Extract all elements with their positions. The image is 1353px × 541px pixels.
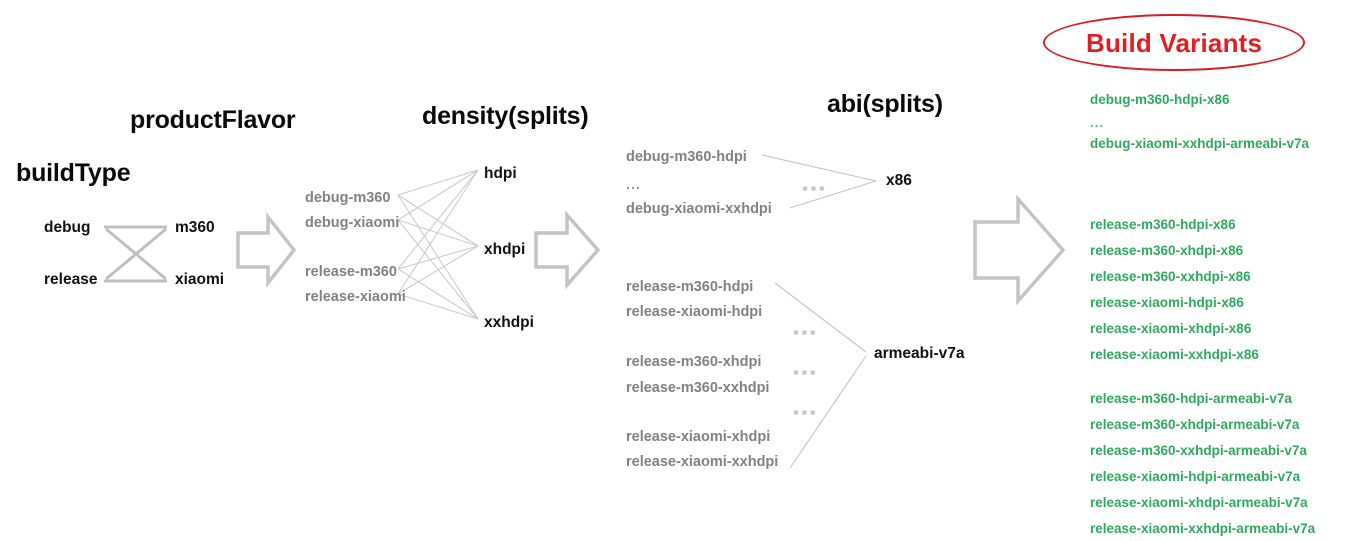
build-variant-item: release-xiaomi-xhdpi-armeabi-v7a <box>1090 495 1315 510</box>
buildtype-release: release <box>44 272 97 288</box>
abi-armeabi-converge <box>775 283 866 468</box>
productflavor-m360: m360 <box>175 220 215 236</box>
dots-separator-debug: ••• <box>802 180 827 197</box>
density-xhdpi: xhdpi <box>484 242 525 258</box>
dots-separator-release-1: ••• <box>793 324 818 341</box>
build-variant-item: release-xiaomi-xxhdpi-armeabi-v7a <box>1090 521 1315 536</box>
density-combo-release-xiaomi-xxhdpi: release-xiaomi-xxhdpi <box>626 455 778 470</box>
density-combo-debug-xiaomi-xxhdpi: debug-xiaomi-xxhdpi <box>626 202 772 217</box>
arrow-right-1 <box>238 217 294 283</box>
abi-armeabi-v7a: armeabi-v7a <box>874 346 964 362</box>
stage-title-productflavor: productFlavor <box>130 108 295 133</box>
build-variants-group-release-armeabi: release-m360-hdpi-armeabi-v7a release-m3… <box>1090 391 1315 536</box>
density-combo-release-xiaomi-xhdpi: release-xiaomi-xhdpi <box>626 430 770 445</box>
stage-title-buildtype: buildType <box>16 161 130 186</box>
dots-separator-release-3: ••• <box>793 404 818 421</box>
arrow-right-3 <box>975 199 1063 301</box>
arrow-right-2 <box>536 215 598 285</box>
abi-x86: x86 <box>886 173 912 189</box>
flavor-combo-release-m360: release-m360 <box>305 265 397 280</box>
build-variant-item: release-m360-xxhdpi-x86 <box>1090 269 1259 284</box>
density-xxhdpi: xxhdpi <box>484 315 534 331</box>
stage-title-density: density(splits) <box>422 104 588 129</box>
build-variant-item: release-m360-hdpi-armeabi-v7a <box>1090 391 1315 406</box>
build-variants-group-release-x86: release-m360-hdpi-x86 release-m360-xhdpi… <box>1090 217 1259 362</box>
build-variant-item: release-m360-xhdpi-x86 <box>1090 243 1259 258</box>
density-combo-debug-m360-hdpi: debug-m360-hdpi <box>626 150 747 165</box>
density-combo-release-m360-xxhdpi: release-m360-xxhdpi <box>626 381 769 396</box>
flavor-combo-debug-m360: debug-m360 <box>305 191 390 206</box>
dots-separator-release-2: ••• <box>793 364 818 381</box>
density-combo-release-m360-hdpi: release-m360-hdpi <box>626 280 753 295</box>
density-hdpi: hdpi <box>484 166 517 182</box>
buildtype-debug: debug <box>44 220 91 236</box>
build-variant-item: release-m360-hdpi-x86 <box>1090 217 1259 232</box>
build-variant-item: release-xiaomi-xxhdpi-x86 <box>1090 347 1259 362</box>
flavor-combo-debug-xiaomi: debug-xiaomi <box>305 216 399 231</box>
build-variant-item: release-xiaomi-hdpi-armeabi-v7a <box>1090 469 1315 484</box>
density-combo-release-xiaomi-hdpi: release-xiaomi-hdpi <box>626 305 762 320</box>
density-combo-debug-ellipsis: ... <box>626 178 641 193</box>
productflavor-xiaomi: xiaomi <box>175 272 224 288</box>
stage-title-abi: abi(splits) <box>827 92 943 117</box>
build-variant-item: release-xiaomi-hdpi-x86 <box>1090 295 1259 310</box>
build-variant-item: release-m360-xhdpi-armeabi-v7a <box>1090 417 1315 432</box>
build-variant-ellipsis: ... <box>1090 115 1309 130</box>
build-variant-item: debug-m360-hdpi-x86 <box>1090 92 1309 107</box>
build-variant-item: debug-xiaomi-xxhdpi-armeabi-v7a <box>1090 136 1309 151</box>
build-variants-title: Build Variants <box>1086 28 1262 59</box>
buildtype-flavor-crossing <box>104 227 167 281</box>
density-combo-release-m360-xhdpi: release-m360-xhdpi <box>626 355 761 370</box>
flavor-density-bipartite <box>398 170 478 319</box>
build-variants-group-debug: debug-m360-hdpi-x86 ... debug-xiaomi-xxh… <box>1090 92 1309 151</box>
build-variants-diagram: buildType productFlavor density(splits) … <box>0 0 1353 541</box>
flavor-combo-release-xiaomi: release-xiaomi <box>305 290 406 305</box>
build-variant-item: release-xiaomi-xhdpi-x86 <box>1090 321 1259 336</box>
build-variant-item: release-m360-xxhdpi-armeabi-v7a <box>1090 443 1315 458</box>
